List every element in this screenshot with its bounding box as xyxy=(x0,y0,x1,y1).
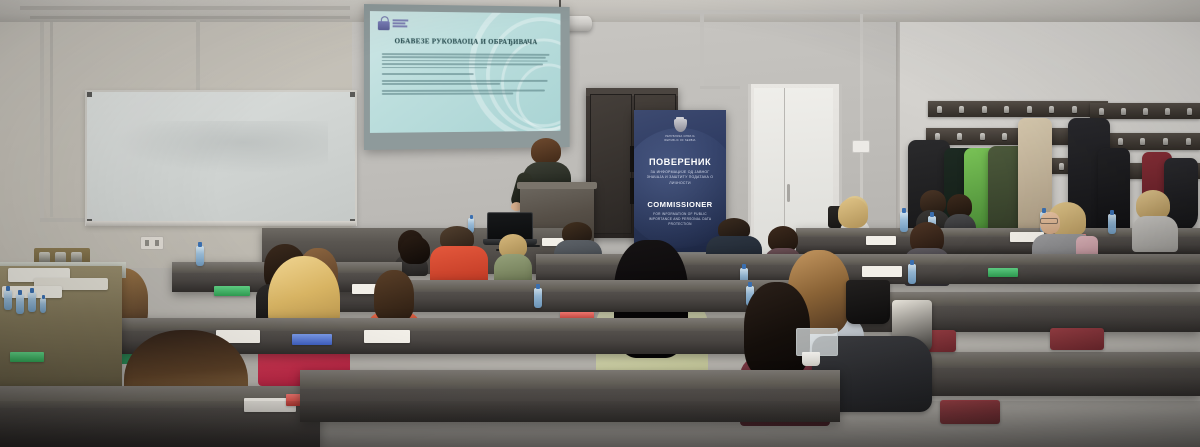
coat-hook-icon[interactable] xyxy=(935,133,940,140)
attendee-brunette-right xyxy=(836,198,870,248)
green-folder[interactable] xyxy=(10,352,44,362)
wall-conduit-pipe xyxy=(700,14,704,90)
coat-hook-icon[interactable] xyxy=(957,133,962,140)
slide-paragraph xyxy=(382,89,550,94)
power-outlet[interactable] xyxy=(140,236,164,250)
coat-hook-icon[interactable] xyxy=(1002,133,1007,140)
whiteboard-marker-tray xyxy=(86,221,356,226)
light-switch[interactable] xyxy=(852,140,870,153)
coat-hook-icon[interactable] xyxy=(1187,108,1192,115)
paper-sheet[interactable] xyxy=(866,236,896,245)
banner-subheading-serbian: ЗА ИНФОРМАЦИЈЕ ОД ЈАВНОГ ЗНАЧАЈА И ЗАШТИ… xyxy=(634,170,726,186)
paper-sheet[interactable] xyxy=(364,330,410,343)
coat-hook-icon[interactable] xyxy=(1099,108,1104,115)
water-bottle[interactable] xyxy=(908,264,916,284)
attendee-far-right xyxy=(1134,190,1174,250)
eyeglasses-icon xyxy=(1040,218,1058,224)
water-bottle[interactable] xyxy=(16,294,24,314)
water-bottle[interactable] xyxy=(534,288,542,308)
coat-rack-rail xyxy=(1090,103,1200,119)
whiteboard-smudge xyxy=(114,121,328,174)
floor-shadow xyxy=(0,401,1200,447)
coat-hook-icon[interactable] xyxy=(1143,108,1148,115)
banner-gov-line-en: REPUBLIC OF SERBIA xyxy=(634,139,726,143)
water-bottle[interactable] xyxy=(196,246,204,266)
logo-wordmark xyxy=(393,20,409,28)
green-folder[interactable] xyxy=(214,286,250,296)
water-bottle[interactable] xyxy=(40,298,46,313)
padlock-icon xyxy=(378,16,390,30)
whiteboard xyxy=(85,90,357,226)
coat-hook-icon[interactable] xyxy=(1118,138,1123,145)
attendee-black-hair-cream-jacket xyxy=(596,240,706,390)
serbia-coat-of-arms-icon xyxy=(674,117,687,133)
cabinet-door[interactable] xyxy=(590,94,632,234)
coat-hook-icon[interactable] xyxy=(980,133,985,140)
attendee-mid-left-dark xyxy=(398,236,432,282)
coat-hook-icon[interactable] xyxy=(982,106,987,113)
coat-hook-icon[interactable] xyxy=(1049,106,1054,113)
banner-heading-english: COMMISSIONER xyxy=(634,200,726,209)
attendee-hair xyxy=(400,236,430,264)
attendee-hair xyxy=(838,198,868,228)
attendee-blonde-wavy xyxy=(262,256,342,376)
coat-hook-icon[interactable] xyxy=(1072,106,1077,113)
banner-gov-line: РЕПУБЛИКА СРБИЈА REPUBLIC OF SERBIA xyxy=(634,135,726,143)
slide-title: ОБАВЕЗЕ РУКОВАОЦА И ОБРАЂИВАЧА xyxy=(370,37,561,46)
slide-body-text xyxy=(382,53,550,100)
slide-logo xyxy=(378,16,408,30)
slide-paragraph xyxy=(382,80,550,85)
coat-hook-icon[interactable] xyxy=(1004,106,1009,113)
blue-folder[interactable] xyxy=(292,334,332,345)
water-bottle[interactable] xyxy=(28,292,36,312)
slide-paragraph xyxy=(382,73,550,75)
ceiling-conduit-pipe xyxy=(20,6,350,10)
projection-screen: ОБАВЕЗЕ РУКОВАОЦА И ОБРАЂИВАЧА xyxy=(364,4,570,150)
coat-hook-icon[interactable] xyxy=(937,106,942,113)
coat-hook-icon[interactable] xyxy=(1027,106,1032,113)
water-bottle[interactable] xyxy=(1108,214,1116,234)
coat-hook-icon[interactable] xyxy=(1186,138,1191,145)
coat-hook-icon[interactable] xyxy=(1165,108,1170,115)
coat-hook-icon[interactable] xyxy=(1121,108,1126,115)
water-bottle[interactable] xyxy=(4,290,12,310)
wall-conduit-pipe xyxy=(40,22,44,222)
lectern-top-lip xyxy=(517,182,597,189)
coat-rack-rail xyxy=(928,101,1108,117)
handbag[interactable] xyxy=(846,280,890,324)
door-handle[interactable] xyxy=(787,184,790,202)
coat-hook-icon[interactable] xyxy=(1059,163,1064,170)
seat-back-red[interactable] xyxy=(1050,328,1104,350)
ceiling-conduit-pipe xyxy=(30,16,350,19)
wall-conduit-pipe xyxy=(50,22,53,217)
lecture-hall-photo: ОБАВЕЗЕ РУКОВАОЦА И ОБРАЂИВАЧА xyxy=(0,0,1200,447)
green-folder[interactable] xyxy=(988,268,1018,277)
banner-heading-serbian: ПОВЕРЕНИК xyxy=(634,157,726,167)
attendee-green-top xyxy=(496,234,530,284)
presenter-hair xyxy=(531,138,561,164)
slide-paragraph xyxy=(382,53,550,68)
paper-sheet[interactable] xyxy=(862,266,902,277)
coat-hook-icon[interactable] xyxy=(959,106,964,113)
ceiling-conduit-pipe xyxy=(660,10,920,14)
presentation-slide: ОБАВЕЗЕ РУКОВАОЦА И ОБРАЂИВАЧА xyxy=(370,11,561,133)
whiteboard-corner xyxy=(350,92,355,97)
wall-conduit-pipe xyxy=(700,86,740,89)
cup[interactable] xyxy=(802,352,820,366)
coat-hook-icon[interactable] xyxy=(1140,138,1145,145)
attendee-torso xyxy=(1132,216,1178,252)
coat-hook-icon[interactable] xyxy=(1163,138,1168,145)
whiteboard-corner xyxy=(87,92,92,97)
